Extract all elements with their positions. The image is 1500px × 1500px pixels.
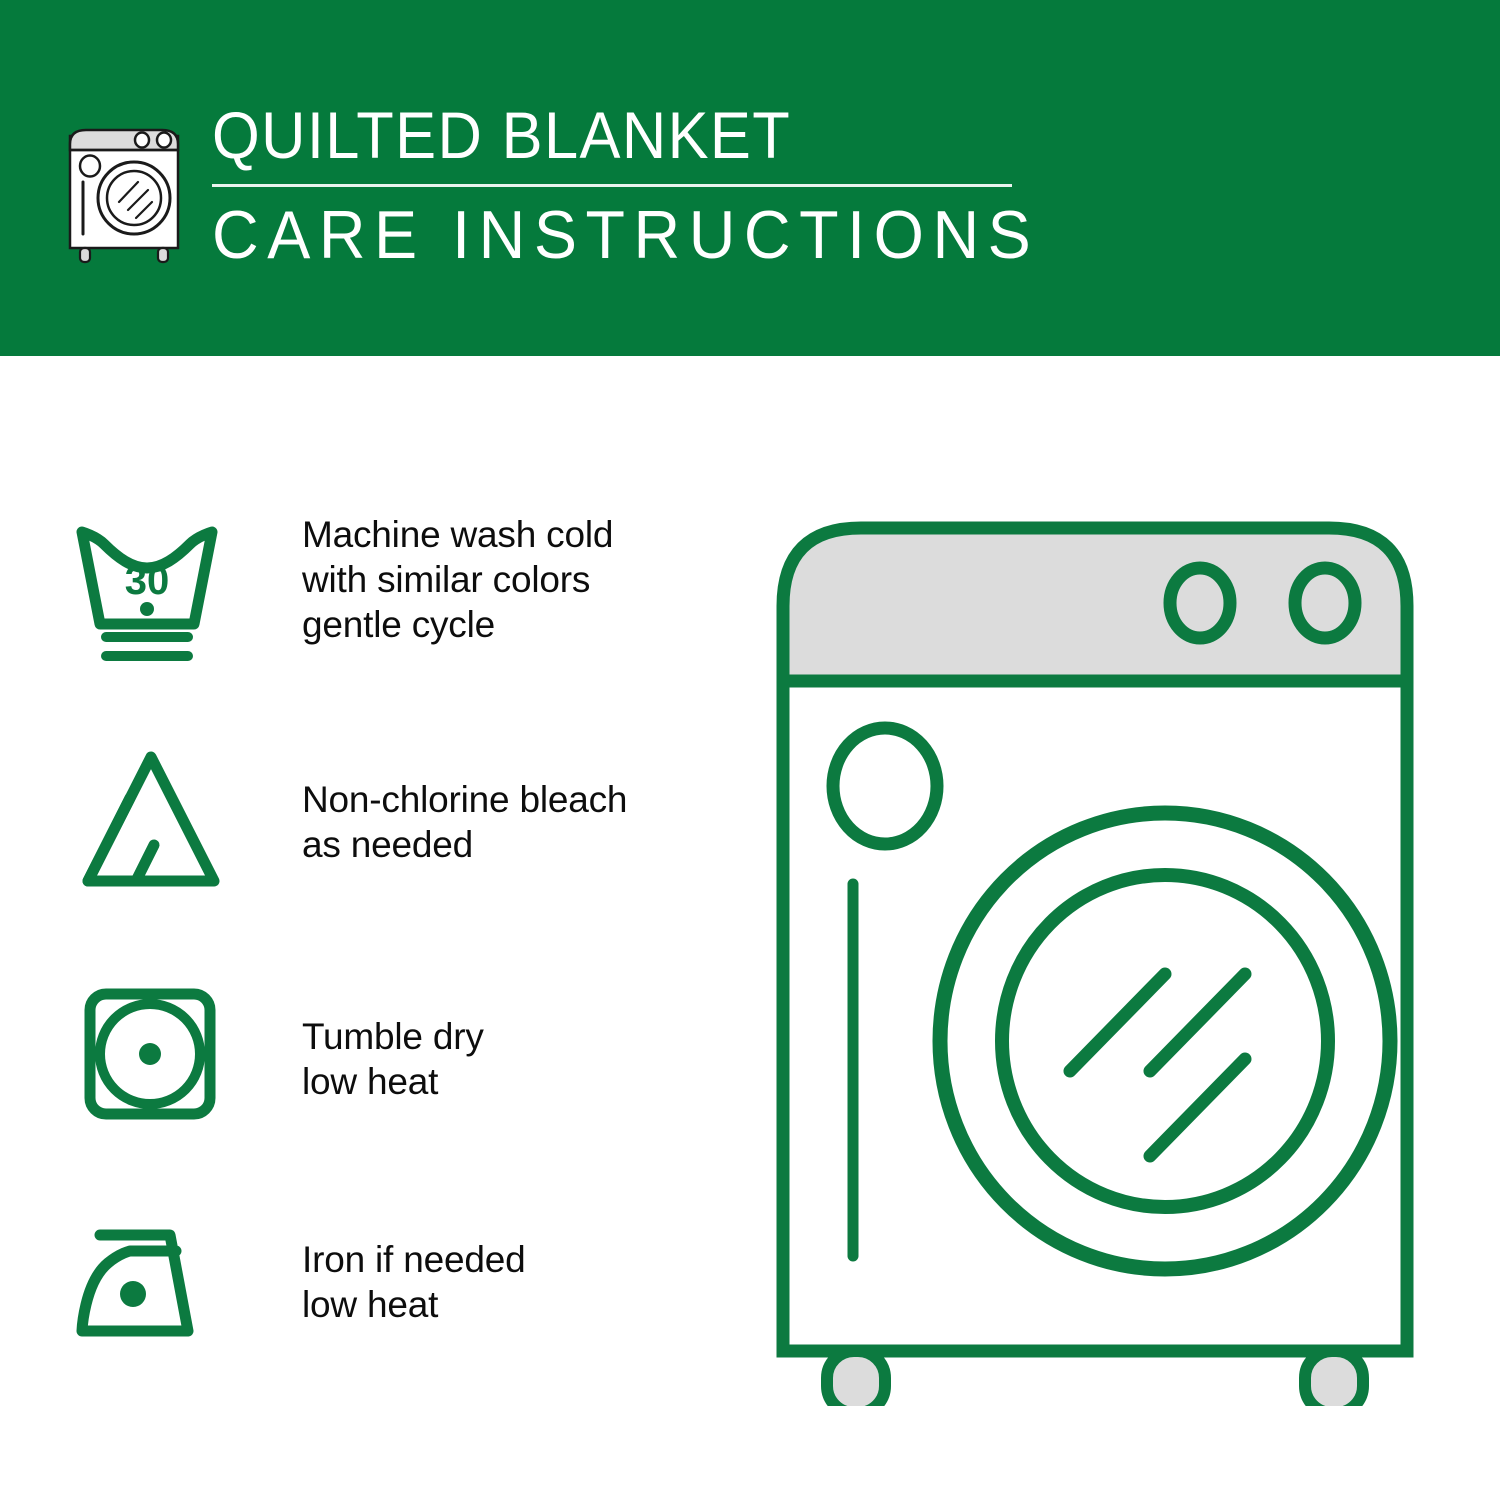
wash-tub-30-gentle-icon: 30 [70, 506, 240, 666]
header-banner: QUILTED BLANKET CARE INSTRUCTIONS [0, 0, 1500, 356]
care-label-line: as needed [302, 822, 627, 867]
leg-right [1305, 1351, 1363, 1406]
care-label-line: Machine wash cold [302, 512, 613, 557]
list-item: Tumble dry low heat [70, 976, 710, 1211]
care-label: Iron if needed low heat [302, 1211, 525, 1327]
care-label-line: Non-chlorine bleach [302, 777, 627, 822]
header-content: QUILTED BLANKET CARE INSTRUCTIONS [62, 100, 1083, 271]
care-instruction-list: 30 Machine wash cold with similar colors… [70, 506, 710, 1446]
list-item: Iron if needed low heat [70, 1211, 710, 1446]
tumble-dry-low-icon [70, 976, 240, 1136]
detergent-port [833, 728, 937, 844]
care-label-line: Iron if needed [302, 1237, 525, 1282]
care-label-line: Tumble dry [302, 1014, 484, 1059]
washing-machine-illustration [745, 496, 1445, 1406]
care-label: Tumble dry low heat [302, 976, 484, 1104]
dial-right [1295, 568, 1355, 638]
care-label: Non-chlorine bleach as needed [302, 741, 627, 867]
leg-left [827, 1351, 885, 1406]
care-label: Machine wash cold with similar colors ge… [302, 506, 613, 647]
page-title: QUILTED BLANKET [212, 100, 1022, 170]
door-inner-ring [1002, 875, 1328, 1207]
title-divider [212, 184, 1012, 187]
care-label-line: low heat [302, 1059, 484, 1104]
wash-temp-value: 30 [125, 559, 170, 603]
dial-left [1170, 568, 1230, 638]
iron-low-heat-icon [70, 1211, 240, 1371]
care-label-line: low heat [302, 1282, 525, 1327]
page-subtitle: CARE INSTRUCTIONS [212, 199, 1039, 271]
list-item: Non-chlorine bleach as needed [70, 741, 710, 976]
care-label-line: with similar colors [302, 557, 613, 602]
header-title-block: QUILTED BLANKET CARE INSTRUCTIONS [212, 100, 1083, 271]
non-chlorine-bleach-triangle-icon [70, 741, 240, 901]
washing-machine-icon [62, 106, 192, 266]
care-label-line: gentle cycle [302, 602, 613, 647]
body-area: 30 Machine wash cold with similar colors… [0, 356, 1500, 1500]
list-item: 30 Machine wash cold with similar colors… [70, 506, 710, 741]
